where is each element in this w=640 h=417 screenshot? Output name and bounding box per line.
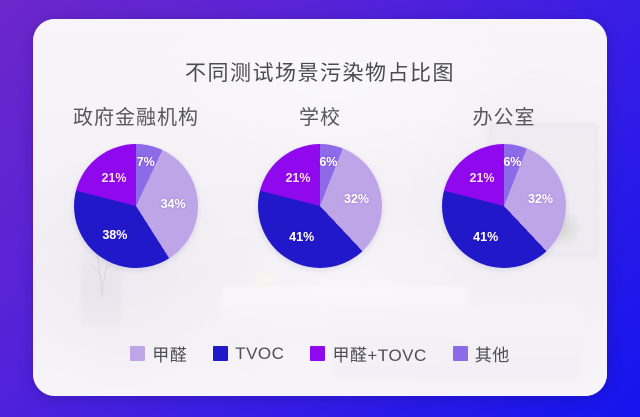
pie-panel-school: 学校 32% 41% 21% 6% xyxy=(231,101,409,268)
pie-slice-label: 41% xyxy=(473,230,498,244)
pie-chart-school: 32% 41% 21% 6% xyxy=(258,144,382,268)
pie-panel-government: 政府金融机构 34% 38% 21% 7% xyxy=(47,101,225,268)
pie-slice-label: 32% xyxy=(528,192,553,206)
pie-chart-office: 32% 41% 21% 6% xyxy=(442,144,566,268)
legend-swatch-icon xyxy=(213,346,228,361)
pie-slice-label: 7% xyxy=(137,155,155,169)
chart-content: 不同测试场景污染物占比图 政府金融机构 34% 38% 21% 7% 学校 xyxy=(33,19,607,396)
pie-slice-label: 6% xyxy=(503,155,521,169)
legend-item-formaldehyde-tovc[interactable]: 甲醛+TOVC xyxy=(310,341,426,366)
pie-slice-label: 21% xyxy=(469,171,494,185)
content-card: 不同测试场景污染物占比图 政府金融机构 34% 38% 21% 7% 学校 xyxy=(33,19,607,396)
legend-item-label: 其他 xyxy=(475,341,510,366)
pie-panel-title: 办公室 xyxy=(473,101,536,130)
pie-slice-label: 41% xyxy=(289,230,314,244)
legend-item-tvoc[interactable]: TVOC xyxy=(213,344,284,364)
chart-legend: 甲醛 TVOC 甲醛+TOVC 其他 xyxy=(33,341,607,366)
pie-chart-government: 34% 38% 21% 7% xyxy=(74,144,198,268)
legend-item-formaldehyde[interactable]: 甲醛 xyxy=(130,341,187,366)
pie-slice-label: 6% xyxy=(319,155,337,169)
legend-swatch-icon xyxy=(130,346,145,361)
legend-swatch-icon xyxy=(310,346,325,361)
legend-item-other[interactable]: 其他 xyxy=(453,341,510,366)
pie-panel-office: 办公室 32% 41% 21% 6% xyxy=(415,101,593,268)
legend-item-label: 甲醛+TOVC xyxy=(332,341,426,366)
slide-root: 不同测试场景污染物占比图 政府金融机构 34% 38% 21% 7% 学校 xyxy=(0,0,640,417)
pie-slice-label: 21% xyxy=(101,171,126,185)
pie-slice-label: 34% xyxy=(161,197,186,211)
pie-panels: 政府金融机构 34% 38% 21% 7% 学校 32% 41 xyxy=(33,101,607,268)
legend-item-label: TVOC xyxy=(235,344,284,364)
legend-swatch-icon xyxy=(453,346,468,361)
pie-panel-title: 学校 xyxy=(299,101,341,130)
pie-panel-title: 政府金融机构 xyxy=(73,101,199,130)
legend-item-label: 甲醛 xyxy=(152,341,187,366)
pie-slice-label: 21% xyxy=(285,171,310,185)
page-title: 不同测试场景污染物占比图 xyxy=(33,57,607,87)
pie-slice-label: 32% xyxy=(344,192,369,206)
pie-slice-label: 38% xyxy=(102,228,127,242)
